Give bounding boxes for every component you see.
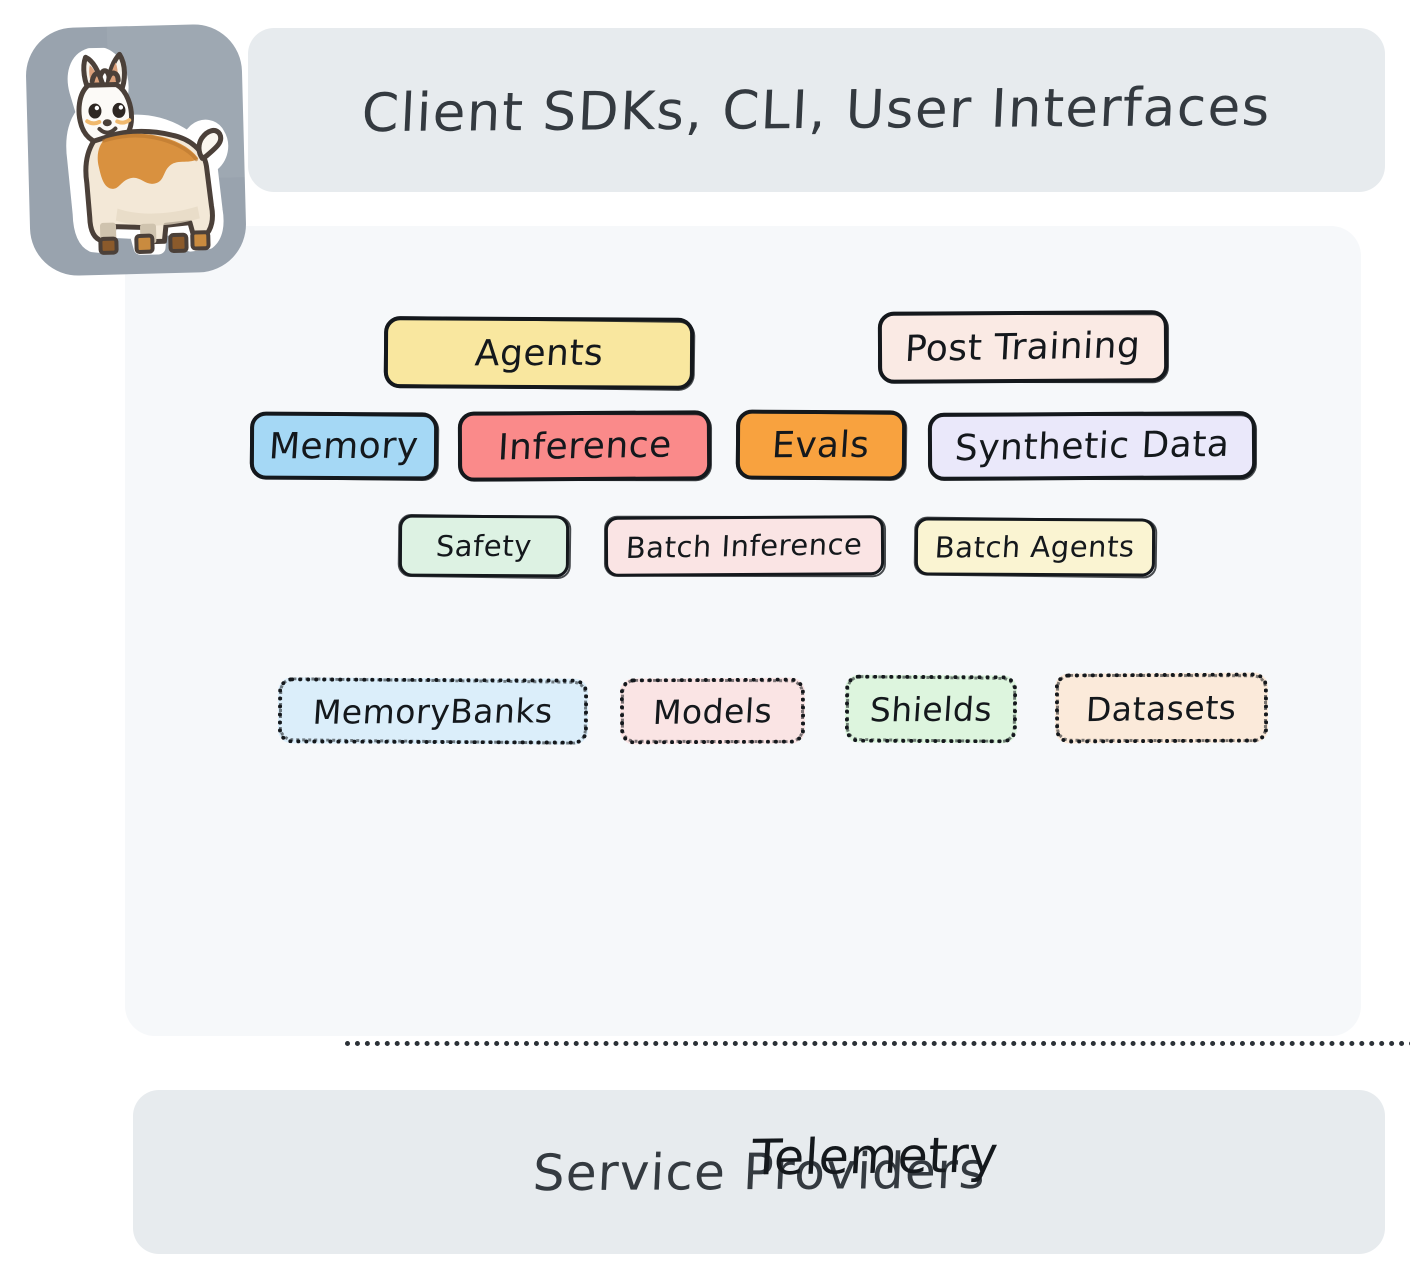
section-separator: [345, 1041, 1410, 1046]
api-box-safety[interactable]: Safety: [399, 515, 569, 578]
llama-logo-tile: [25, 23, 247, 277]
api-box-label: Evals: [771, 424, 871, 465]
resource-box-models[interactable]: Models: [620, 678, 805, 745]
resource-box-label: MemoryBanks: [312, 691, 554, 731]
api-box-synthetic-data[interactable]: Synthetic Data: [928, 411, 1256, 481]
api-box-label: Post Training: [904, 325, 1142, 370]
api-box-label: Inference: [497, 424, 673, 468]
api-box-label: Synthetic Data: [954, 423, 1231, 469]
api-box-memory[interactable]: Memory: [250, 412, 438, 481]
api-box-batch-inference[interactable]: Batch Inference: [605, 515, 884, 577]
api-panel: AgentsPost TrainingMemoryInferenceEvalsS…: [125, 226, 1361, 1036]
api-box-label: Memory: [268, 425, 420, 467]
telemetry-label: Telemetry: [750, 1126, 1000, 1186]
api-box-post-training[interactable]: Post Training: [878, 310, 1168, 384]
llama-icon: [35, 38, 233, 265]
header-title: Client SDKs, CLI, User Interfaces: [361, 76, 1273, 143]
api-box-batch-agents[interactable]: Batch Agents: [915, 517, 1155, 576]
api-box-label: Batch Agents: [934, 529, 1136, 564]
resource-box-datasets[interactable]: Datasets: [1055, 672, 1268, 743]
resource-box-label: Datasets: [1085, 687, 1238, 728]
api-box-agents[interactable]: Agents: [384, 316, 694, 390]
resource-box-memorybanks[interactable]: MemoryBanks: [278, 677, 588, 744]
api-box-label: Safety: [435, 529, 533, 563]
api-box-label: Agents: [473, 332, 604, 374]
api-box-label: Batch Inference: [625, 527, 863, 565]
api-box-evals[interactable]: Evals: [736, 410, 906, 481]
header-bar: Client SDKs, CLI, User Interfaces: [248, 28, 1385, 192]
resource-box-label: Models: [652, 691, 773, 732]
api-box-inference[interactable]: Inference: [458, 410, 711, 482]
resource-box-label: Shields: [869, 689, 994, 729]
resource-box-shields[interactable]: Shields: [845, 675, 1017, 744]
